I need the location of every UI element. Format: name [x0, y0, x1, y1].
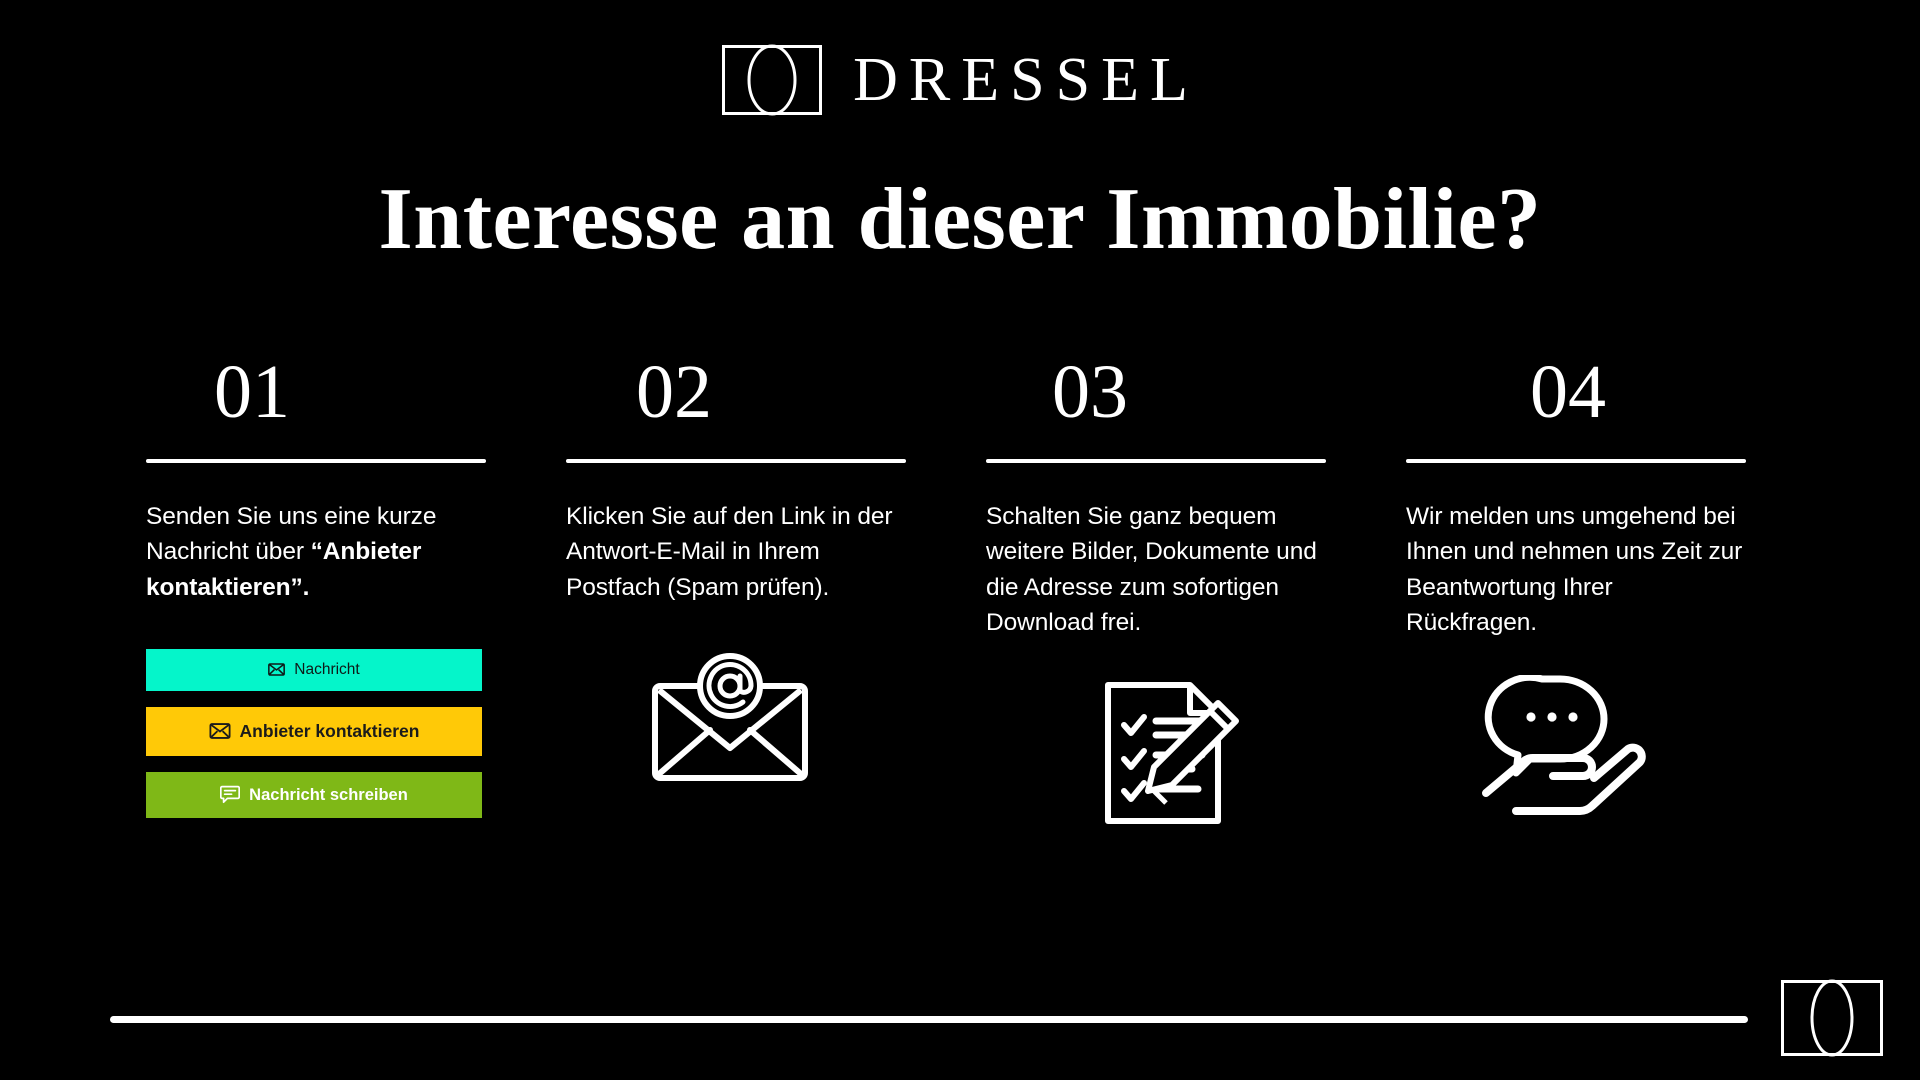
page-title: Interesse an dieser Immobilie? [0, 172, 1920, 267]
step-description: Klicken Sie auf den Link in der Antwort-… [566, 499, 906, 605]
message-icon [220, 785, 240, 804]
brand-wordmark: DRESSEL [849, 49, 1199, 111]
step-icon-wrapper [1406, 670, 1746, 820]
step-description: Wir melden uns umgehend bei Ihnen und ne… [1406, 499, 1746, 640]
nachricht-button[interactable]: Nachricht [146, 649, 482, 691]
step-divider [566, 459, 906, 463]
step-number: 03 [986, 344, 1326, 430]
nachricht-schreiben-button-label: Nachricht schreiben [249, 787, 408, 804]
step-divider [986, 459, 1326, 463]
dressel-monogram-icon [721, 44, 823, 116]
step-divider [1406, 459, 1746, 463]
nachricht-schreiben-button[interactable]: Nachricht schreiben [146, 772, 482, 818]
contact-button-stack: Nachricht Anbieter kontaktieren Nachrich… [146, 649, 482, 818]
envelope-at-icon [650, 652, 810, 784]
step-divider [146, 459, 486, 463]
nachricht-button-label: Nachricht [294, 662, 359, 678]
dressel-monogram-icon [1780, 979, 1884, 1057]
anbieter-kontaktieren-button[interactable]: Anbieter kontaktieren [146, 707, 482, 756]
step-number: 01 [146, 344, 486, 430]
anbieter-kontaktieren-button-label: Anbieter kontaktieren [240, 723, 420, 741]
step-number: 02 [566, 344, 906, 430]
checklist-pen-icon [1098, 679, 1246, 827]
step-icon-wrapper [566, 643, 906, 793]
footer-divider [110, 1016, 1748, 1023]
speech-bubble-hand-icon [1480, 675, 1656, 815]
envelope-icon [268, 663, 285, 676]
step-01: 01 Senden Sie uns eine kurze Nachricht ü… [146, 344, 486, 818]
step-03: 03 Schalten Sie ganz bequem weitere Bild… [986, 344, 1326, 828]
steps-container: 01 Senden Sie uns eine kurze Nachricht ü… [146, 344, 1806, 828]
step-description: Senden Sie uns eine kurze Nachricht über… [146, 499, 486, 605]
step-icon-wrapper [986, 678, 1326, 828]
step-description: Schalten Sie ganz bequem weitere Bilder,… [986, 499, 1326, 640]
step-number: 04 [1406, 344, 1746, 430]
envelope-icon [209, 723, 231, 739]
step-02: 02 Klicken Sie auf den Link in der Antwo… [566, 344, 906, 793]
step-04: 04 Wir melden uns umgehend bei Ihnen und… [1406, 344, 1746, 820]
header-logo: DRESSEL [0, 44, 1920, 116]
